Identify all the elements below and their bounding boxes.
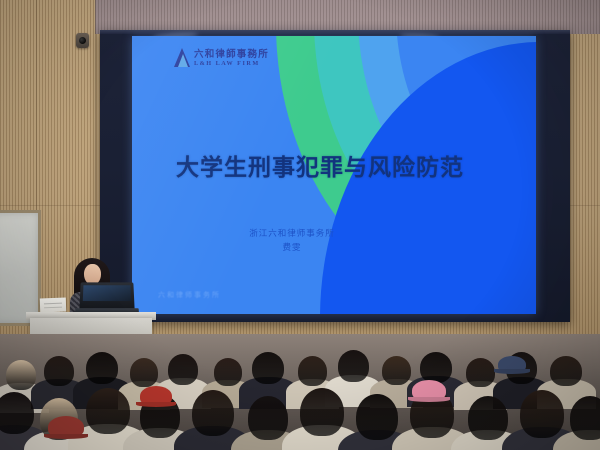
audience-head: [168, 354, 198, 385]
lecture-hall-photo: 六和律師事務所 L&H LAW FIRM 大学生刑事犯罪与风险防范 浙江六和律师…: [0, 0, 600, 450]
audience-head: [468, 396, 508, 440]
slide-title: 大学生刑事犯罪与风险防范: [176, 148, 464, 182]
slide-subtitle: 浙江六和律师事务所 费雯: [132, 226, 452, 255]
audience-head: [252, 352, 284, 384]
audience-head: [86, 352, 118, 384]
audience-head: [466, 358, 495, 387]
logo-english-name: L&H LAW FIRM: [194, 61, 269, 67]
slide-subtitle-presenter: 费雯: [132, 240, 452, 254]
ceiling-sensor-icon: [76, 33, 89, 48]
notes-on-podium: [40, 298, 66, 313]
audience-head: [298, 356, 327, 386]
audience-head: [550, 356, 582, 386]
presenter-laptop: [79, 282, 134, 310]
audience-head: [6, 360, 36, 390]
audience-red-cap: [140, 386, 172, 406]
audience-head: [0, 392, 34, 434]
audience-pink-cap: [412, 380, 446, 401]
audience-head: [520, 390, 564, 438]
presentation-slide: 六和律師事務所 L&H LAW FIRM 大学生刑事犯罪与风险防范 浙江六和律师…: [132, 36, 536, 314]
audience-head: [44, 356, 74, 386]
audience-head: [248, 396, 288, 440]
audience-head: [86, 388, 130, 434]
audience-head: [300, 388, 344, 436]
audience-head: [570, 396, 600, 440]
law-firm-logo: 六和律師事務所 L&H LAW FIRM: [174, 48, 269, 67]
audience-head: [356, 394, 398, 440]
audience-head: [214, 358, 242, 386]
logo-chinese-name: 六和律師事務所: [194, 50, 269, 60]
audience-head: [420, 352, 452, 383]
upper-wall-band: [95, 0, 600, 34]
audience-head: [382, 356, 411, 385]
mountain-triangle-logo-icon: [174, 48, 191, 67]
audience-navy-cap: [498, 356, 526, 373]
audience-red-cap: [48, 416, 84, 438]
audience-head: [338, 350, 369, 382]
laptop-screen: [83, 285, 131, 301]
audience-seated: [0, 334, 600, 450]
audience-head: [130, 358, 158, 387]
slide-subtitle-org: 浙江六和律师事务所: [132, 226, 452, 240]
audience-head: [192, 390, 234, 436]
